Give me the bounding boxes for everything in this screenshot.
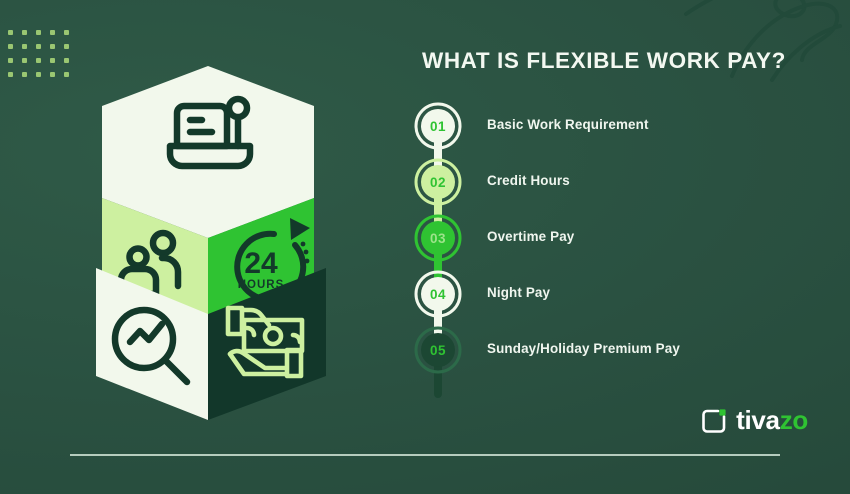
- logo-text-accent: zo: [780, 405, 808, 435]
- step-label-01: Basic Work Requirement: [487, 117, 649, 132]
- step-label-03: Overtime Pay: [487, 229, 574, 244]
- 24-hours-number: 24: [244, 247, 278, 280]
- logo-text-primary: tiva: [736, 405, 780, 435]
- step-number-01: 01: [412, 100, 464, 152]
- step-item-03[interactable]: 03 Overtime Pay: [412, 212, 832, 268]
- step-item-01[interactable]: 01 Basic Work Requirement: [412, 100, 832, 156]
- step-number-03: 03: [412, 212, 464, 264]
- step-badge-05: 05: [412, 324, 464, 400]
- step-label-04: Night Pay: [487, 285, 550, 300]
- brand-logo[interactable]: tivazo: [701, 405, 808, 436]
- infographic-canvas: 24 HOURS: [0, 0, 850, 494]
- step-label-02: Credit Hours: [487, 173, 570, 188]
- step-number-05: 05: [412, 324, 464, 376]
- step-item-02[interactable]: 02 Credit Hours: [412, 156, 832, 212]
- cube-illustration: 24 HOURS: [78, 58, 358, 428]
- step-number-02: 02: [412, 156, 464, 208]
- step-item-05[interactable]: 05 Sunday/Holiday Premium Pay: [412, 324, 832, 380]
- page-title: WHAT IS FLEXIBLE WORK PAY?: [422, 48, 786, 74]
- steps-list: 01 Basic Work Requirement 02 Credit Hour…: [412, 100, 832, 380]
- step-label-05: Sunday/Holiday Premium Pay: [487, 341, 680, 356]
- step-number-04: 04: [412, 268, 464, 320]
- dot-grid-decoration: [8, 30, 78, 86]
- footer-divider: [70, 454, 780, 456]
- tivazo-bracket-icon: [701, 408, 727, 434]
- step-item-04[interactable]: 04 Night Pay: [412, 268, 832, 324]
